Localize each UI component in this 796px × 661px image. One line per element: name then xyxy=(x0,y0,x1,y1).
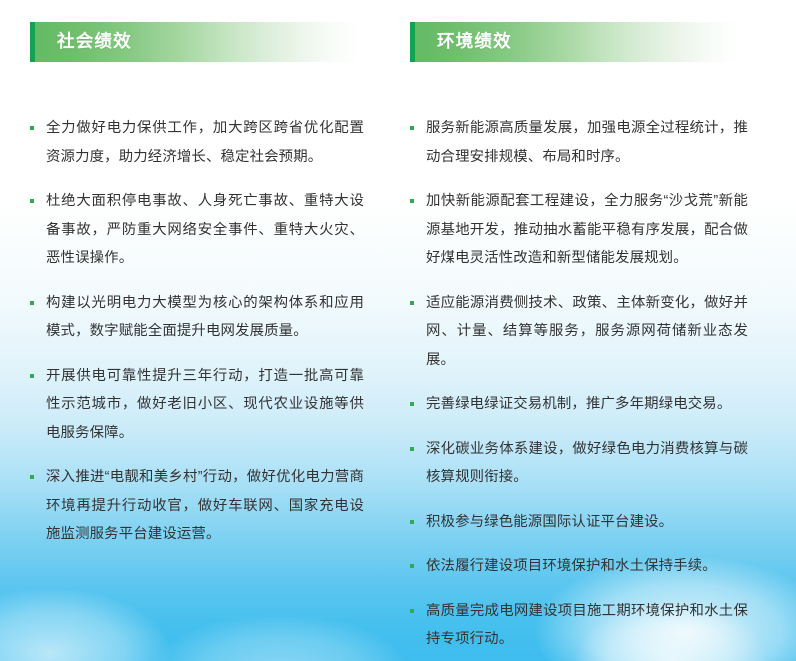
list-item-text: 完善绿电绿证交易机制，推广多年期绿电交易。 xyxy=(426,396,731,412)
column-social-performance: 社会绩效 全力做好电力保供工作，加大跨区跨省优化配置资源力度，助力经济增长、稳定… xyxy=(0,22,398,661)
list-item-text: 高质量完成电网建设项目施工期环境保护和水土保持专项行动。 xyxy=(426,603,748,648)
two-column-layout: 社会绩效 全力做好电力保供工作，加大跨区跨省优化配置资源力度，助力经济增长、稳定… xyxy=(0,0,796,661)
section-header-social: 社会绩效 xyxy=(30,22,360,62)
list-item: 适应能源消费侧技术、政策、主体新变化，做好并网、计量、结算等服务，服务源网荷储新… xyxy=(410,289,748,375)
section-accent-bar-environmental xyxy=(410,22,415,62)
bullet-list-social: 全力做好电力保供工作，加大跨区跨省优化配置资源力度，助力经济增长、稳定社会预期。… xyxy=(30,114,398,549)
list-item: 完善绿电绿证交易机制，推广多年期绿电交易。 xyxy=(410,390,748,419)
list-item-text: 杜绝大面积停电事故、人身死亡事故、重特大设备事故，严防重大网络安全事件、重特大火… xyxy=(46,193,364,266)
list-item-text: 构建以光明电力大模型为核心的架构体系和应用模式，数字赋能全面提升电网发展质量。 xyxy=(46,295,364,340)
list-item: 开展供电可靠性提升三年行动，打造一批高可靠性示范城市，做好老旧小区、现代农业设施… xyxy=(30,362,364,448)
list-item: 深入推进“电靓和美乡村”行动，做好优化电力营商环境再提升行动收官，做好车联网、国… xyxy=(30,463,364,549)
section-title-environmental: 环境绩效 xyxy=(437,33,512,51)
list-item-text: 依法履行建设项目环境保护和水土保持手续。 xyxy=(426,558,717,574)
bullet-square-icon xyxy=(410,564,414,568)
list-item-text: 深化碳业务体系建设，做好绿色电力消费核算与碳核算规则衔接。 xyxy=(426,441,748,486)
list-item: 服务新能源高质量发展，加强电源全过程统计，推动合理安排规模、布局和时序。 xyxy=(410,114,748,171)
bullet-square-icon xyxy=(410,126,414,130)
bullet-square-icon xyxy=(410,402,414,406)
list-item-text: 积极参与绿色能源国际认证平台建设。 xyxy=(426,514,673,530)
list-item: 加快新能源配套工程建设，全力服务“沙戈荒”新能源基地开发，推动抽水蓄能平稳有序发… xyxy=(410,187,748,273)
list-item: 积极参与绿色能源国际认证平台建设。 xyxy=(410,508,748,537)
bullet-square-icon xyxy=(410,301,414,305)
bullet-square-icon xyxy=(30,126,34,130)
bullet-square-icon xyxy=(30,199,34,203)
list-item-text: 服务新能源高质量发展，加强电源全过程统计，推动合理安排规模、布局和时序。 xyxy=(426,120,748,165)
bullet-square-icon xyxy=(410,520,414,524)
esg-performance-page: 社会绩效 全力做好电力保供工作，加大跨区跨省优化配置资源力度，助力经济增长、稳定… xyxy=(0,0,796,661)
list-item-text: 适应能源消费侧技术、政策、主体新变化，做好并网、计量、结算等服务，服务源网荷储新… xyxy=(426,295,748,368)
list-item-text: 深入推进“电靓和美乡村”行动，做好优化电力营商环境再提升行动收官，做好车联网、国… xyxy=(46,469,364,542)
list-item: 依法履行建设项目环境保护和水土保持手续。 xyxy=(410,552,748,581)
column-environmental-performance: 环境绩效 服务新能源高质量发展，加强电源全过程统计，推动合理安排规模、布局和时序… xyxy=(398,22,796,661)
section-title-social: 社会绩效 xyxy=(57,33,132,51)
bullet-square-icon xyxy=(410,199,414,203)
section-accent-bar-social xyxy=(30,22,35,62)
bullet-square-icon xyxy=(410,609,414,613)
bullet-square-icon xyxy=(410,447,414,451)
list-item-text: 开展供电可靠性提升三年行动，打造一批高可靠性示范城市，做好老旧小区、现代农业设施… xyxy=(46,368,364,441)
list-item: 全力做好电力保供工作，加大跨区跨省优化配置资源力度，助力经济增长、稳定社会预期。 xyxy=(30,114,364,171)
list-item: 深化碳业务体系建设，做好绿色电力消费核算与碳核算规则衔接。 xyxy=(410,435,748,492)
list-item-text: 全力做好电力保供工作，加大跨区跨省优化配置资源力度，助力经济增长、稳定社会预期。 xyxy=(46,120,364,165)
bullet-square-icon xyxy=(30,301,34,305)
bullet-list-environmental: 服务新能源高质量发展，加强电源全过程统计，推动合理安排规模、布局和时序。 加快新… xyxy=(410,114,796,661)
bullet-square-icon xyxy=(30,475,34,479)
list-item: 高质量完成电网建设项目施工期环境保护和水土保持专项行动。 xyxy=(410,597,748,654)
list-item-text: 加快新能源配套工程建设，全力服务“沙戈荒”新能源基地开发，推动抽水蓄能平稳有序发… xyxy=(426,193,748,266)
list-item: 构建以光明电力大模型为核心的架构体系和应用模式，数字赋能全面提升电网发展质量。 xyxy=(30,289,364,346)
bullet-square-icon xyxy=(30,374,34,378)
list-item: 杜绝大面积停电事故、人身死亡事故、重特大设备事故，严防重大网络安全事件、重特大火… xyxy=(30,187,364,273)
section-header-environmental: 环境绩效 xyxy=(410,22,740,62)
